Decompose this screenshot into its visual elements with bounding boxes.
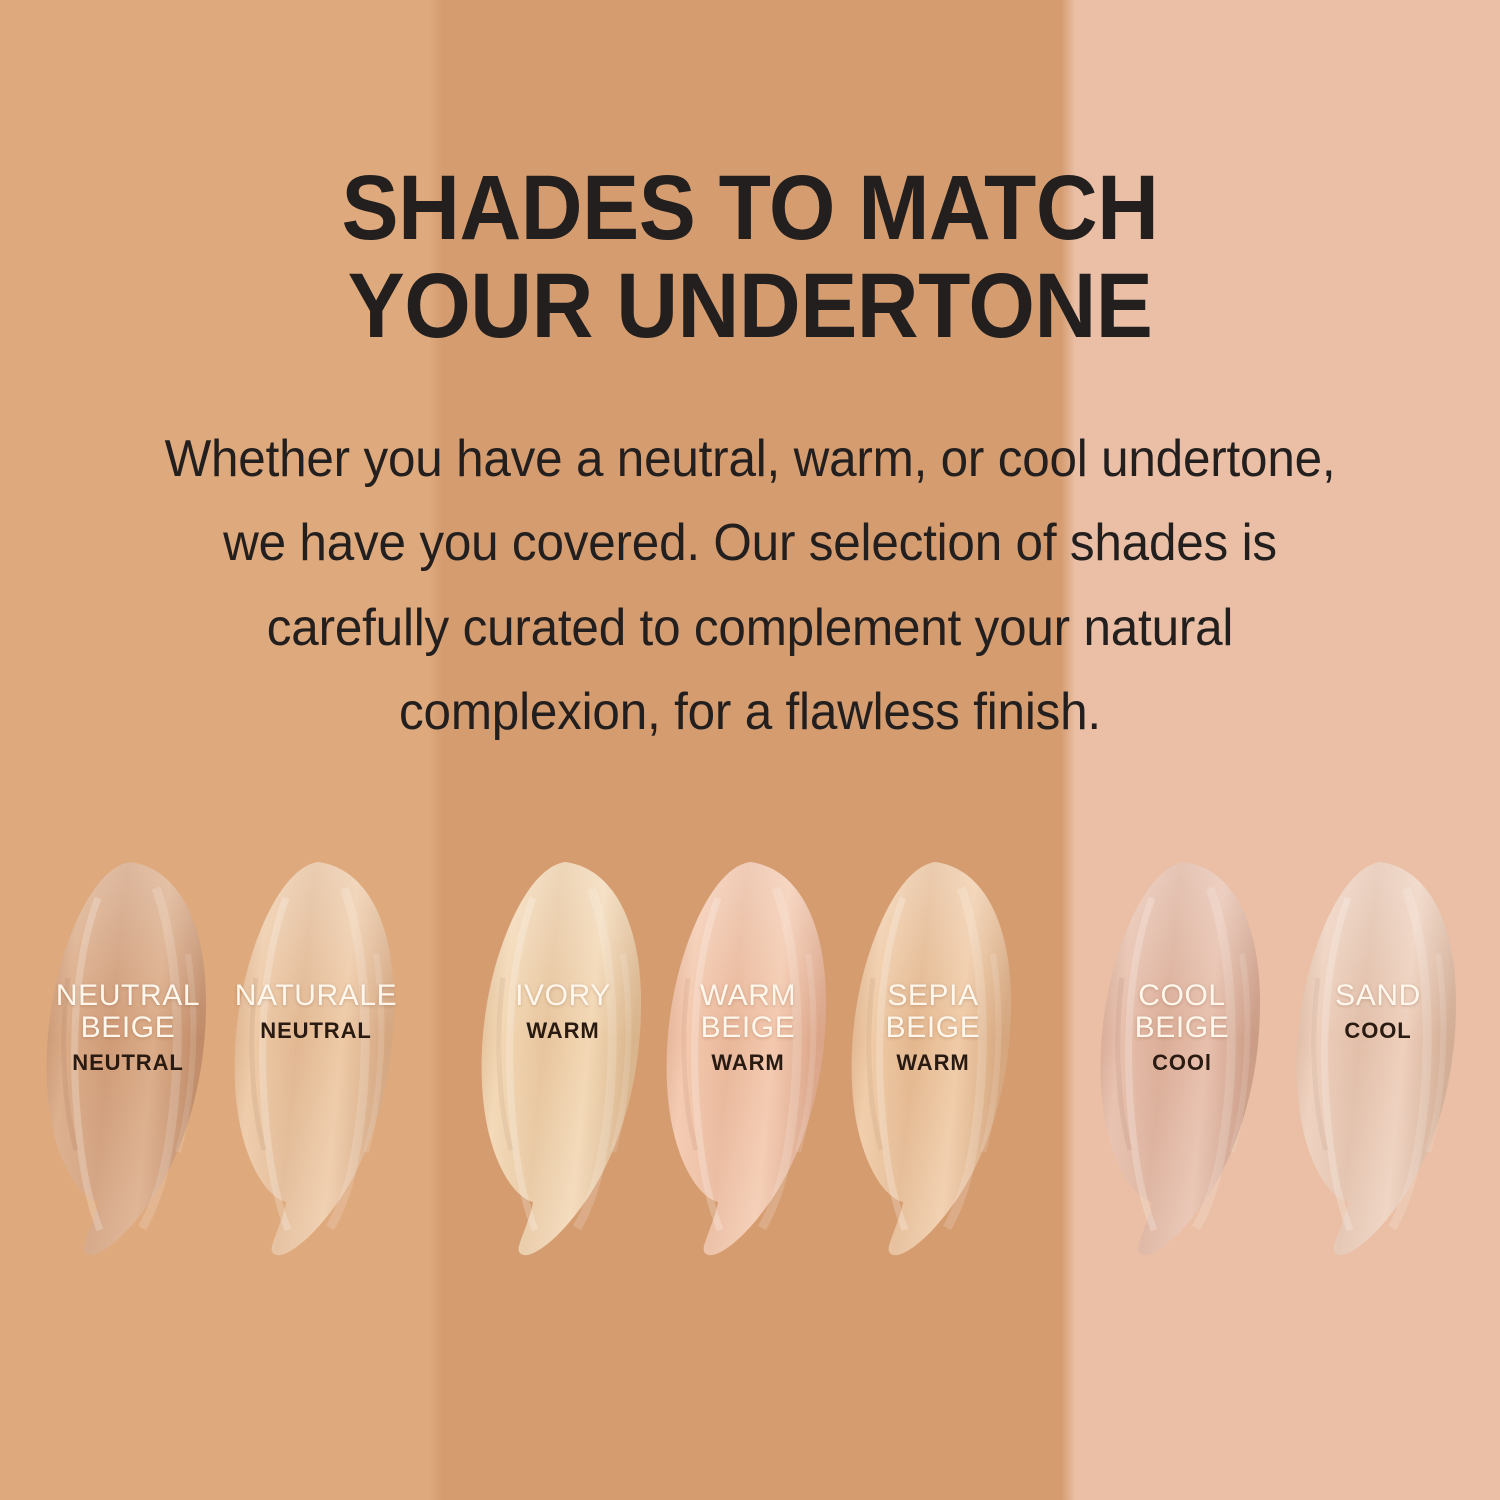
body-copy: Whether you have a neutral, warm, or coo… [156, 417, 1344, 754]
swatch-shape-icon [843, 858, 1023, 1258]
swatch-shape-icon [226, 858, 406, 1258]
swatch-shape-icon [658, 858, 838, 1258]
shade-swatch[interactable]: NATURALE NEUTRAL [226, 858, 406, 1258]
shade-swatch-row: NEUTRAL BEIGE NEUTRAL [0, 858, 1500, 1278]
swatch-shape-icon [38, 858, 218, 1258]
text-block: SHADES TO MATCH YOUR UNDERTONE Whether y… [0, 160, 1500, 754]
shade-swatch[interactable]: COOL BEIGE COOl [1092, 858, 1272, 1258]
page-title: SHADES TO MATCH YOUR UNDERTONE [262, 160, 1239, 355]
shade-swatch[interactable]: SEPIA BEIGE WARM [843, 858, 1023, 1258]
shade-swatch[interactable]: IVORY WARM [473, 858, 653, 1258]
swatch-shape-icon [473, 858, 653, 1258]
shade-match-promo-image: SHADES TO MATCH YOUR UNDERTONE Whether y… [0, 0, 1500, 1500]
shade-swatch[interactable]: WARM BEIGE WARM [658, 858, 838, 1258]
shade-swatch[interactable]: SAND COOL [1288, 858, 1468, 1258]
swatch-shape-icon [1092, 858, 1272, 1258]
swatch-shape-icon [1288, 858, 1468, 1258]
shade-swatch[interactable]: NEUTRAL BEIGE NEUTRAL [38, 858, 218, 1258]
